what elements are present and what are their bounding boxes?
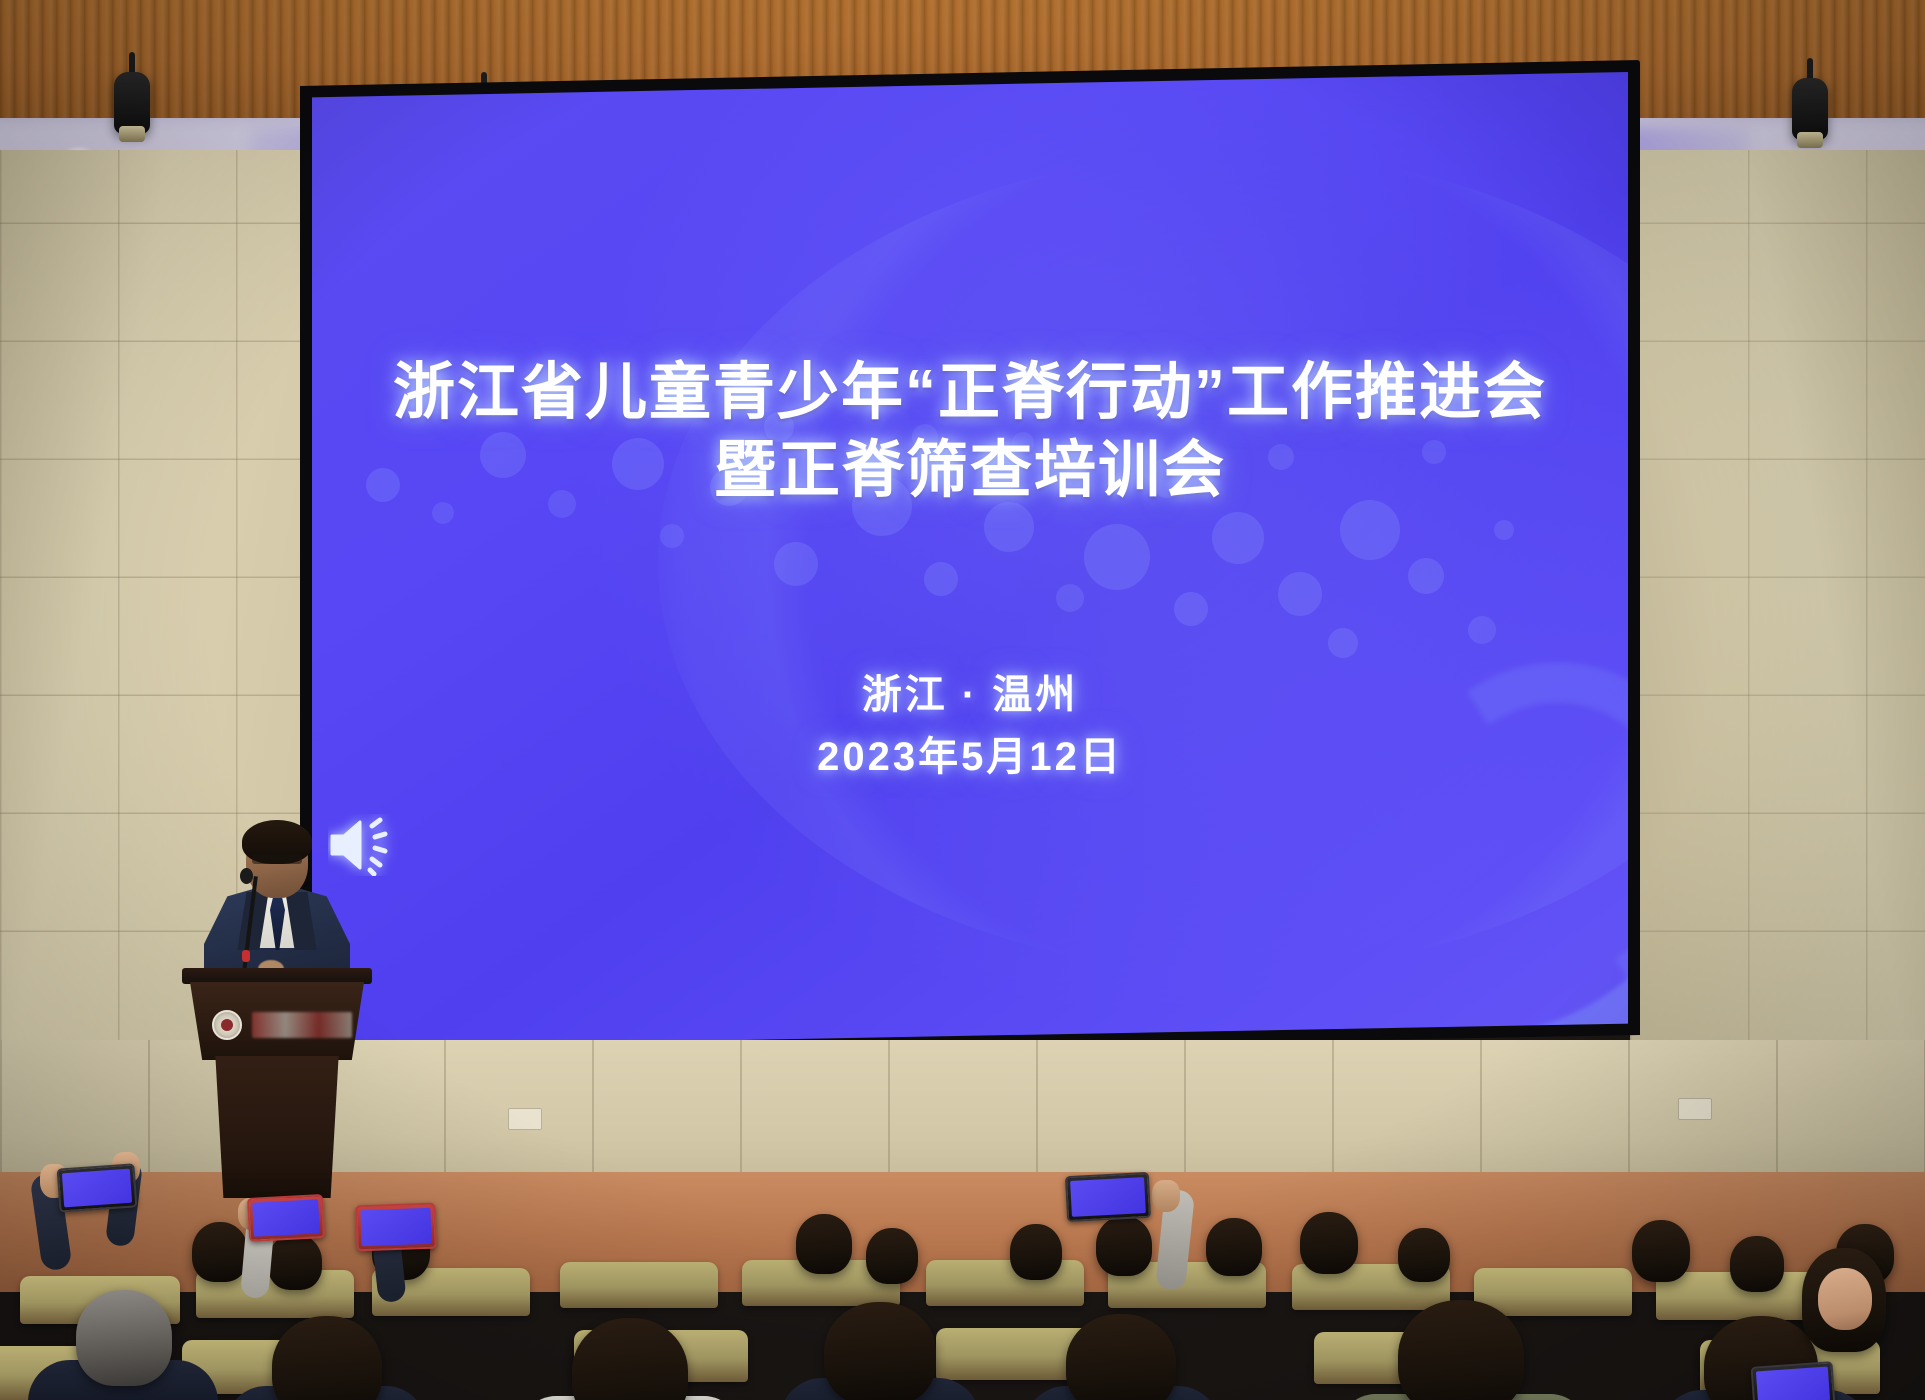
led-screen: 浙江省儿童青少年“正脊行动”工作推进会 暨正脊筛查培训会 浙江 · 温州 202… <box>312 72 1628 1048</box>
auditorium-photo: 浙江省儿童青少年“正脊行动”工作推进会 暨正脊筛查培训会 浙江 · 温州 202… <box>0 0 1925 1400</box>
audience-head <box>1066 1314 1176 1400</box>
microphone-icon <box>240 868 253 884</box>
slide-location: 浙江 · 温州 <box>312 664 1628 726</box>
slide-subtitle: 浙江 · 温州 2023年5月12日 <box>312 664 1628 788</box>
slide-date: 2023年5月12日 <box>312 726 1628 788</box>
audience-face <box>1818 1268 1872 1330</box>
audience-head <box>268 1234 322 1290</box>
audience-head <box>1010 1224 1062 1280</box>
right-wall-panel <box>1630 150 1925 1050</box>
audience-head <box>796 1214 852 1274</box>
audience-phone[interactable] <box>1065 1172 1151 1222</box>
audience-head <box>192 1222 248 1282</box>
audience-area <box>0 1150 1925 1400</box>
stage-track-light <box>110 52 154 152</box>
wall-socket <box>508 1108 542 1130</box>
audience-head <box>1398 1228 1450 1282</box>
audience-head <box>1398 1300 1524 1400</box>
audience-head <box>1730 1236 1784 1292</box>
slide-title-line-2: 暨正脊筛查培训会 <box>312 432 1628 510</box>
slide-title-line-1: 浙江省儿童青少年“正脊行动”工作推进会 <box>312 354 1628 432</box>
slide-content: 浙江省儿童青少年“正脊行动”工作推进会 暨正脊筛查培训会 浙江 · 温州 202… <box>312 72 1628 1048</box>
audience-phone[interactable] <box>355 1203 437 1252</box>
audience-head <box>76 1290 172 1386</box>
institution-emblem-icon <box>212 1010 242 1040</box>
audience-phone[interactable] <box>57 1163 138 1212</box>
audience-phone[interactable] <box>247 1194 325 1242</box>
podium-front-panel <box>190 982 364 1060</box>
hand <box>1152 1180 1180 1212</box>
slide-title: 浙江省儿童青少年“正脊行动”工作推进会 暨正脊筛查培训会 <box>312 354 1628 510</box>
audience-phone[interactable] <box>1751 1361 1836 1400</box>
podium-top <box>182 968 372 984</box>
audience-head <box>1206 1218 1262 1276</box>
stage-track-light <box>1788 58 1832 158</box>
audience-head <box>1632 1220 1690 1282</box>
seat <box>560 1262 718 1308</box>
eyeglasses-icon <box>252 854 302 864</box>
audience-head <box>1300 1212 1358 1274</box>
audience-head <box>272 1316 382 1400</box>
wall-socket <box>1678 1098 1712 1120</box>
seat <box>926 1260 1084 1306</box>
podium-nameplate <box>252 1012 352 1038</box>
audience-head <box>824 1302 936 1400</box>
red-indicator-light <box>242 950 250 962</box>
audience-head <box>1096 1216 1152 1276</box>
audience-head <box>866 1228 918 1284</box>
